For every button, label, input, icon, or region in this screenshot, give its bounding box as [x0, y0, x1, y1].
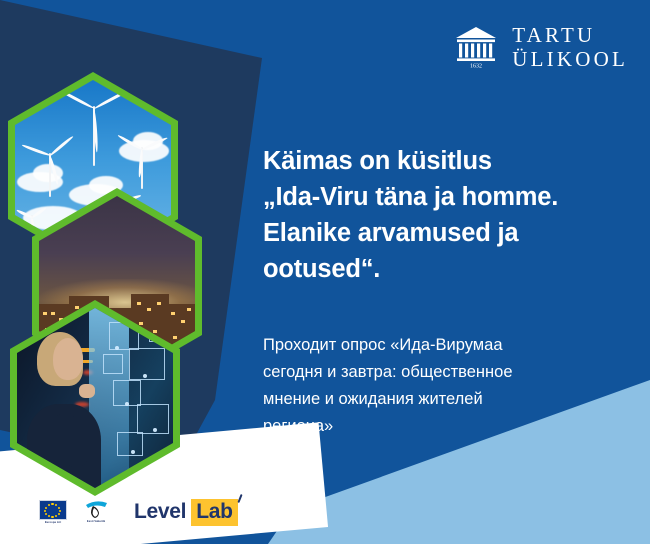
level-lab-highlight: Lab [191, 499, 237, 526]
subcopy-line-4: региона» [263, 413, 613, 440]
university-name: TARTU ÜLIKOOL [512, 25, 628, 70]
estonia-emblem-icon [83, 500, 109, 519]
university-name-line1: TARTU [512, 25, 628, 46]
headline-line-1: Käimas on küsitlus [263, 144, 633, 180]
person-hand [79, 384, 95, 398]
european-union-flag-logo: Euroopa Liit [38, 500, 68, 524]
footer-logo-row: Euroopa Liit Eesti Vabariik Level Lab [38, 494, 238, 530]
eu-flag-icon [39, 500, 67, 520]
estonia-logo-label: Eesti Vabariik [87, 520, 105, 523]
level-lab-logo: Level Lab [134, 499, 238, 526]
eu-logo-label: Euroopa Liit [45, 521, 61, 524]
university-of-tartu-logo: 1632 TARTU ÜLIKOOL [453, 24, 628, 70]
headline-estonian: Käimas on küsitlus „Ida-Viru täna ja hom… [263, 144, 633, 288]
subcopy-line-1: Проходит опрос «Ида-Вирумаа [263, 332, 613, 359]
level-lab-word-level: Level [134, 500, 186, 524]
subcopy-russian: Проходит опрос «Ида-Вирумаа сегодня и за… [263, 332, 613, 440]
headline-line-4: ootused“. [263, 252, 633, 288]
estonia-emblem-logo: Eesti Vabariik [81, 500, 111, 523]
headline-line-3: Elanike arvamused ja [263, 216, 633, 252]
hexagon-image-stack [0, 0, 215, 500]
classical-building-icon: 1632 [453, 24, 499, 70]
headline-line-2: „Ida-Viru täna ja homme. [263, 180, 633, 216]
poster-canvas: 1632 TARTU ÜLIKOOL Käimas on küsitlus „I… [0, 0, 650, 544]
university-name-line2: ÜLIKOOL [512, 49, 628, 70]
subcopy-line-2: сегодня и завтра: общественное [263, 359, 613, 386]
person-face [53, 338, 83, 380]
subcopy-line-3: мнение и ожидания жителей [263, 386, 613, 413]
founded-year: 1632 [470, 64, 482, 70]
level-lab-word-lab: Lab [191, 499, 237, 526]
